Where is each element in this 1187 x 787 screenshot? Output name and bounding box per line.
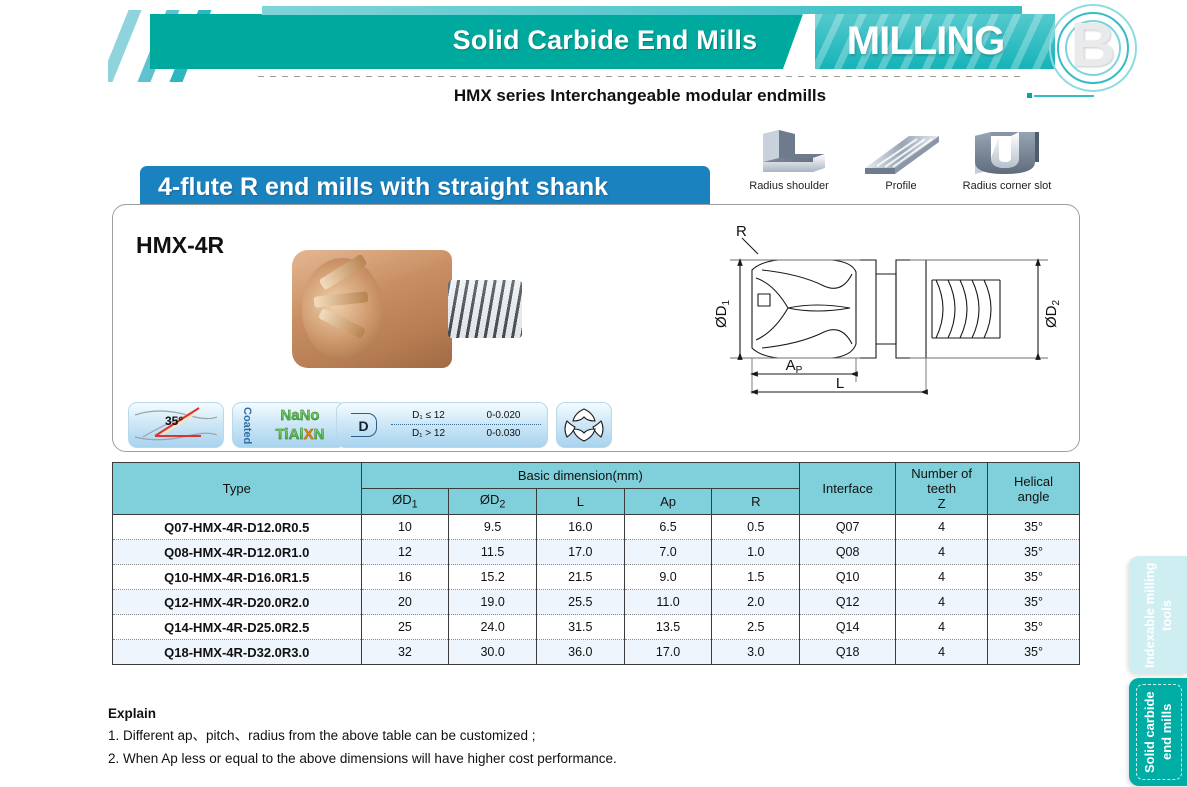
cell-type: Q14-HMX-4R-D25.0R2.5	[113, 615, 362, 640]
application-radius-corner-slot: Radius corner slot	[953, 128, 1061, 192]
cell-d2: 30.0	[449, 640, 537, 665]
cell-r: 2.5	[712, 615, 800, 640]
cell-d2: 15.2	[449, 565, 537, 590]
feature-badges: 35° Coated NaNo TiAlXN D D₁ ≤ 12 0-0.020…	[128, 402, 598, 450]
radius-corner-slot-icon	[953, 128, 1061, 178]
coating-name-line2: TiAlXN	[257, 425, 343, 444]
drawing-label-diameter2: ØD2	[1043, 300, 1062, 329]
explain-note-1: 1. Different ap、pitch、radius from the ab…	[108, 727, 808, 745]
tolerance-row: D₁ > 12 0-0.030	[391, 425, 541, 443]
cell-l: 16.0	[536, 515, 624, 540]
cell-l: 36.0	[536, 640, 624, 665]
cell-ap: 11.0	[624, 590, 712, 615]
cell-l: 17.0	[536, 540, 624, 565]
cell-interface: Q07	[800, 515, 896, 540]
cell-helical: 35°	[988, 515, 1080, 540]
cell-interface: Q14	[800, 615, 896, 640]
drawing-label-length: L	[836, 375, 844, 392]
col-interface: Interface	[800, 463, 896, 515]
helix-angle-value: 35°	[165, 414, 183, 428]
application-profile: Profile	[847, 128, 955, 192]
application-label: Radius corner slot	[953, 180, 1061, 192]
cell-d1: 25	[361, 615, 449, 640]
drawing-label-diameter1: ØD1	[713, 300, 732, 329]
cell-ap: 7.0	[624, 540, 712, 565]
cell-helical: 35°	[988, 640, 1080, 665]
cell-type: Q07-HMX-4R-D12.0R0.5	[113, 515, 362, 540]
table-row[interactable]: Q18-HMX-4R-D32.0R3.0 32 30.0 36.0 17.0 3…	[113, 640, 1080, 665]
application-label: Profile	[847, 180, 955, 192]
col-d2: ØD2	[449, 489, 537, 515]
col-r: R	[712, 489, 800, 515]
sidebar-item-solid-carbide-end-mills[interactable]: Solid carbide end mills	[1129, 678, 1187, 786]
4-flute-end-view-icon	[557, 403, 611, 447]
drawing-label-ap: AP	[786, 357, 803, 376]
cell-type: Q12-HMX-4R-D20.0R2.0	[113, 590, 362, 615]
sidebar-item-label: Indexable milling tools	[1141, 556, 1175, 674]
cell-ap: 17.0	[624, 640, 712, 665]
cell-r: 2.0	[712, 590, 800, 615]
cell-teeth: 4	[896, 640, 988, 665]
coating-badge: Coated NaNo TiAlXN	[232, 402, 346, 448]
cell-helical: 35°	[988, 565, 1080, 590]
cell-r: 3.0	[712, 640, 800, 665]
helix-angle-badge: 35°	[128, 402, 224, 448]
cell-ap: 13.5	[624, 615, 712, 640]
cell-ap: 9.0	[624, 565, 712, 590]
product-code: HMX-4R	[136, 232, 224, 259]
application-icons: Radius shoulder Profil	[735, 128, 1065, 206]
tolerance-badge: D D₁ ≤ 12 0-0.020 D₁ > 12 0-0.030	[336, 402, 548, 448]
table-row[interactable]: Q08-HMX-4R-D12.0R1.0 12 11.5 17.0 7.0 1.…	[113, 540, 1080, 565]
header-category-label: MILLING	[818, 14, 1033, 69]
cell-r: 0.5	[712, 515, 800, 540]
engineering-drawing: R ØD1 ØD2 AP L	[700, 222, 1072, 402]
end-view-badge	[556, 402, 612, 448]
cell-d1: 16	[361, 565, 449, 590]
table-row[interactable]: Q14-HMX-4R-D25.0R2.5 25 24.0 31.5 13.5 2…	[113, 615, 1080, 640]
section-letter-badge: B	[1045, 0, 1141, 96]
cell-d1: 20	[361, 590, 449, 615]
cell-teeth: 4	[896, 565, 988, 590]
table-row[interactable]: Q10-HMX-4R-D16.0R1.5 16 15.2 21.5 9.0 1.…	[113, 565, 1080, 590]
cell-type: Q18-HMX-4R-D32.0R3.0	[113, 640, 362, 665]
sidebar-item-label: Solid carbide end mills	[1141, 678, 1175, 786]
cell-l: 25.5	[536, 590, 624, 615]
cell-interface: Q10	[800, 565, 896, 590]
cell-interface: Q08	[800, 540, 896, 565]
product-photo	[272, 236, 552, 384]
explain-heading: Explain	[108, 706, 808, 721]
subtitle-bullet	[1027, 93, 1032, 98]
cell-helical: 35°	[988, 540, 1080, 565]
coated-label: Coated	[239, 407, 255, 445]
cell-d2: 9.5	[449, 515, 537, 540]
cell-d2: 11.5	[449, 540, 537, 565]
explain-note-2: 2. When Ap less or equal to the above di…	[108, 750, 808, 768]
tolerance-value: 0-0.020	[466, 407, 541, 424]
application-radius-shoulder: Radius shoulder	[735, 128, 843, 192]
cell-teeth: 4	[896, 590, 988, 615]
radius-shoulder-icon	[735, 128, 843, 178]
specifications-table: Type Basic dimension(mm) Interface Numbe…	[112, 462, 1080, 665]
profile-icon	[847, 128, 955, 178]
cell-type: Q10-HMX-4R-D16.0R1.5	[113, 565, 362, 590]
cell-teeth: 4	[896, 515, 988, 540]
cell-teeth: 4	[896, 615, 988, 640]
cell-r: 1.5	[712, 565, 800, 590]
coating-name-line1: NaNo	[257, 406, 343, 425]
page-header: Solid Carbide End Mills MILLING B HMX se…	[0, 0, 1187, 112]
subtitle-connector-line	[1034, 95, 1094, 97]
col-ap: Ap	[624, 489, 712, 515]
cell-interface: Q18	[800, 640, 896, 665]
tolerance-value: 0-0.030	[466, 425, 541, 443]
col-helical-angle: Helical angle	[988, 463, 1080, 515]
tolerance-condition: D₁ ≤ 12	[391, 407, 466, 424]
application-label: Radius shoulder	[735, 180, 843, 192]
cell-r: 1.0	[712, 540, 800, 565]
col-type: Type	[113, 463, 362, 515]
cell-interface: Q12	[800, 590, 896, 615]
section-letter: B	[1045, 6, 1141, 86]
tolerance-row: D₁ ≤ 12 0-0.020	[391, 407, 541, 425]
explain-section: Explain 1. Different ap、pitch、radius fro…	[108, 706, 808, 773]
cell-ap: 6.5	[624, 515, 712, 540]
col-group-basic-dimension: Basic dimension(mm)	[361, 463, 800, 489]
cell-helical: 35°	[988, 590, 1080, 615]
drawing-label-radius: R	[736, 223, 747, 240]
cell-d1: 10	[361, 515, 449, 540]
col-l: L	[536, 489, 624, 515]
cell-teeth: 4	[896, 540, 988, 565]
tolerance-condition: D₁ > 12	[391, 425, 466, 443]
cell-type: Q08-HMX-4R-D12.0R1.0	[113, 540, 362, 565]
cell-d2: 24.0	[449, 615, 537, 640]
cell-d1: 12	[361, 540, 449, 565]
cell-d1: 32	[361, 640, 449, 665]
col-d1: ØD1	[361, 489, 449, 515]
header-dotted-rule	[258, 76, 1020, 77]
specifications-table-body: Q07-HMX-4R-D12.0R0.5 10 9.5 16.0 6.5 0.5…	[113, 515, 1080, 665]
table-row[interactable]: Q12-HMX-4R-D20.0R2.0 20 19.0 25.5 11.0 2…	[113, 590, 1080, 615]
cell-helical: 35°	[988, 615, 1080, 640]
cell-l: 31.5	[536, 615, 624, 640]
header-subtitle: HMX series Interchangeable modular endmi…	[260, 84, 1020, 108]
cell-l: 21.5	[536, 565, 624, 590]
table-row[interactable]: Q07-HMX-4R-D12.0R0.5 10 9.5 16.0 6.5 0.5…	[113, 515, 1080, 540]
product-banner-title: 4-flute R end mills with straight shank	[140, 166, 710, 208]
cell-d2: 19.0	[449, 590, 537, 615]
col-teeth: Number of teeth Z	[896, 463, 988, 515]
tolerance-symbol: D	[351, 413, 377, 437]
sidebar-item-indexable-milling-tools[interactable]: Indexable milling tools	[1129, 556, 1187, 674]
header-title: Solid Carbide End Mills	[420, 22, 790, 58]
